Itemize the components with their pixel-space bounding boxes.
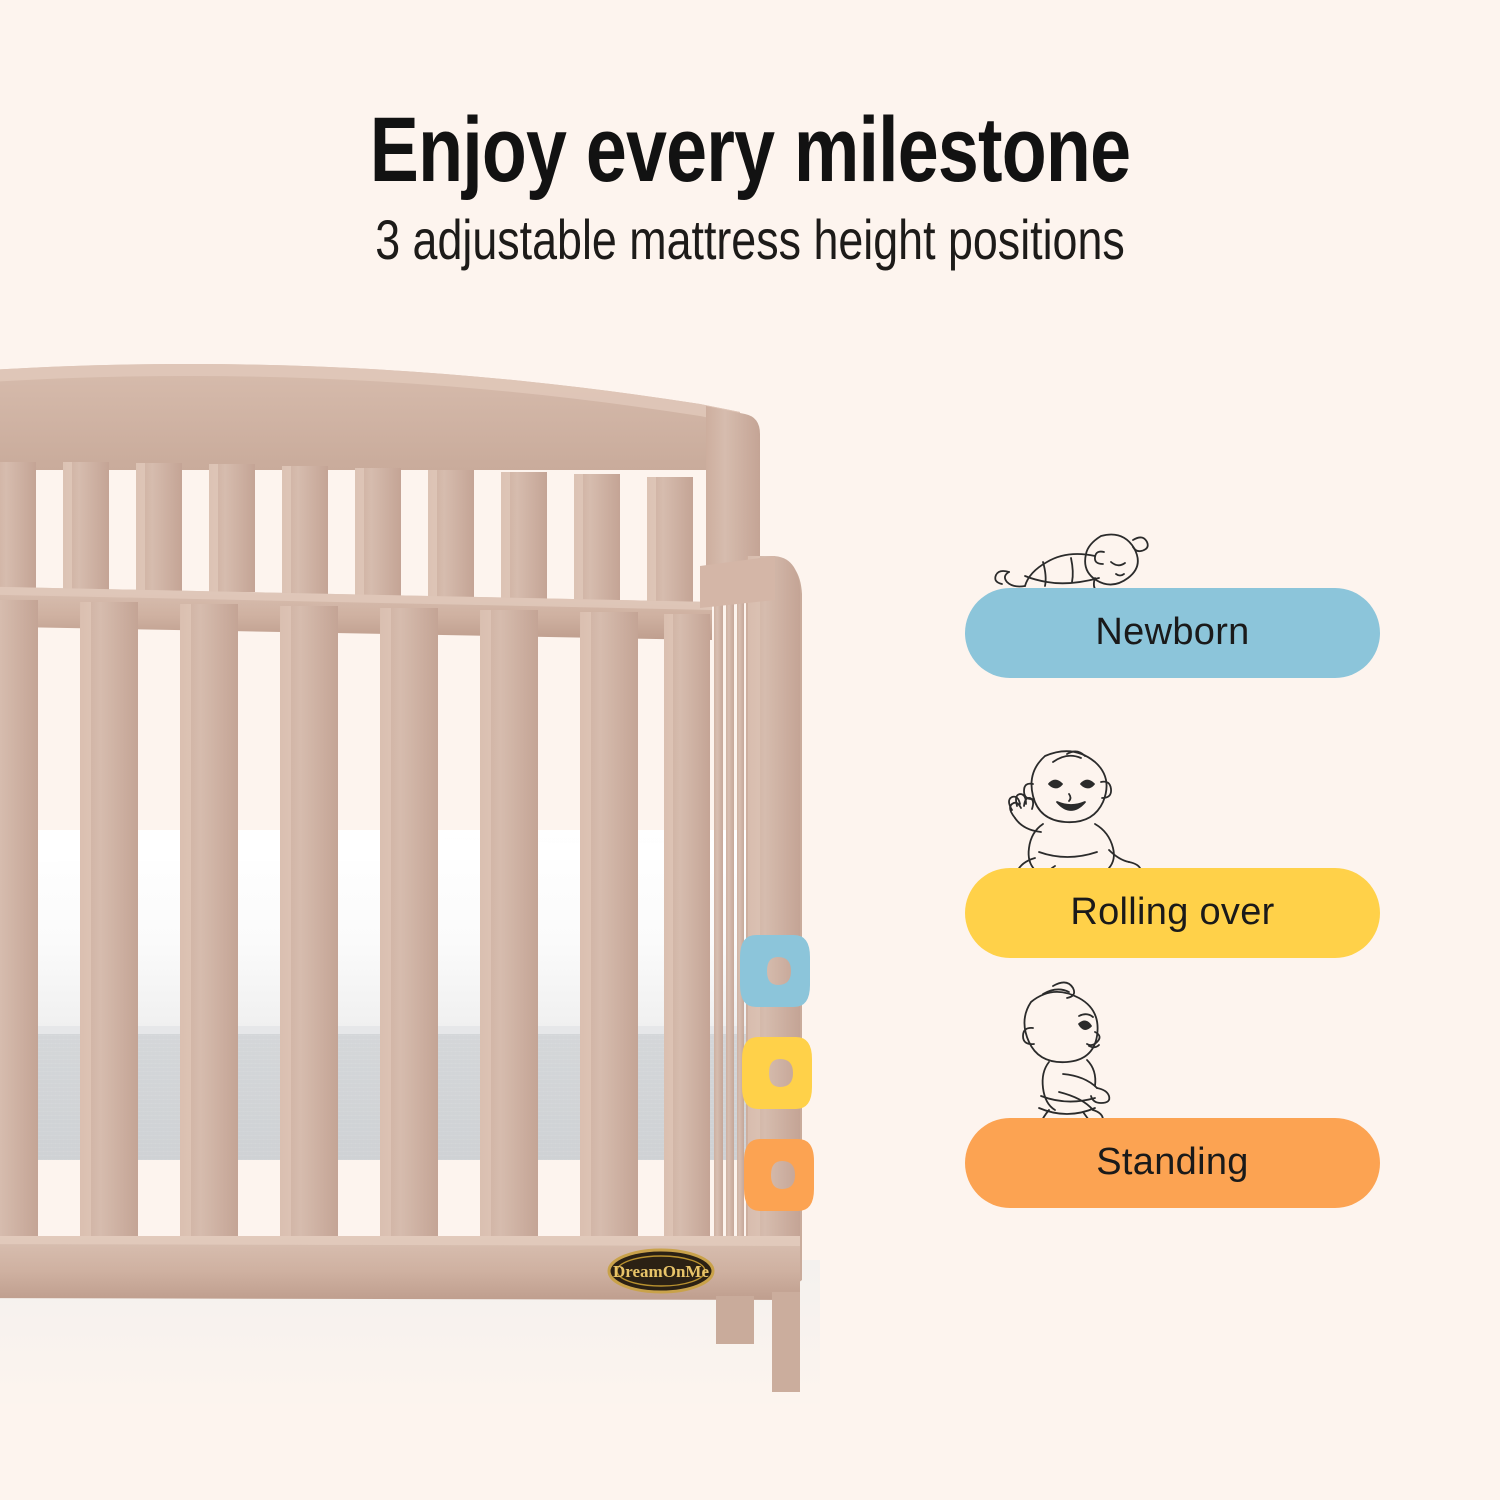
headboard-slat xyxy=(0,462,36,590)
milestone-label: Newborn xyxy=(1095,611,1249,654)
milestone-label: Standing xyxy=(1096,1141,1248,1184)
brand-plate: DreamOnMe xyxy=(609,1250,713,1292)
infographic-canvas: Enjoy every milestone 3 adjustable mattr… xyxy=(0,0,1500,1500)
crib-leg-inner xyxy=(716,1296,754,1344)
headboard-slat-group xyxy=(0,462,693,605)
milestone-pill-newborn[interactable]: Newborn xyxy=(965,588,1380,678)
milestone-pill-rolling-over[interactable]: Rolling over xyxy=(965,868,1380,958)
milestone-pill-standing[interactable]: Standing xyxy=(965,1118,1380,1208)
side-slat xyxy=(0,600,38,1240)
brand-plate-text: DreamOnMe xyxy=(613,1262,709,1281)
crib-leg-outer xyxy=(772,1292,800,1392)
milestone-list: Newborn xyxy=(955,500,1425,1240)
milestone-label: Rolling over xyxy=(1070,891,1274,934)
crib-product-image: DreamOnMe xyxy=(0,0,900,1500)
